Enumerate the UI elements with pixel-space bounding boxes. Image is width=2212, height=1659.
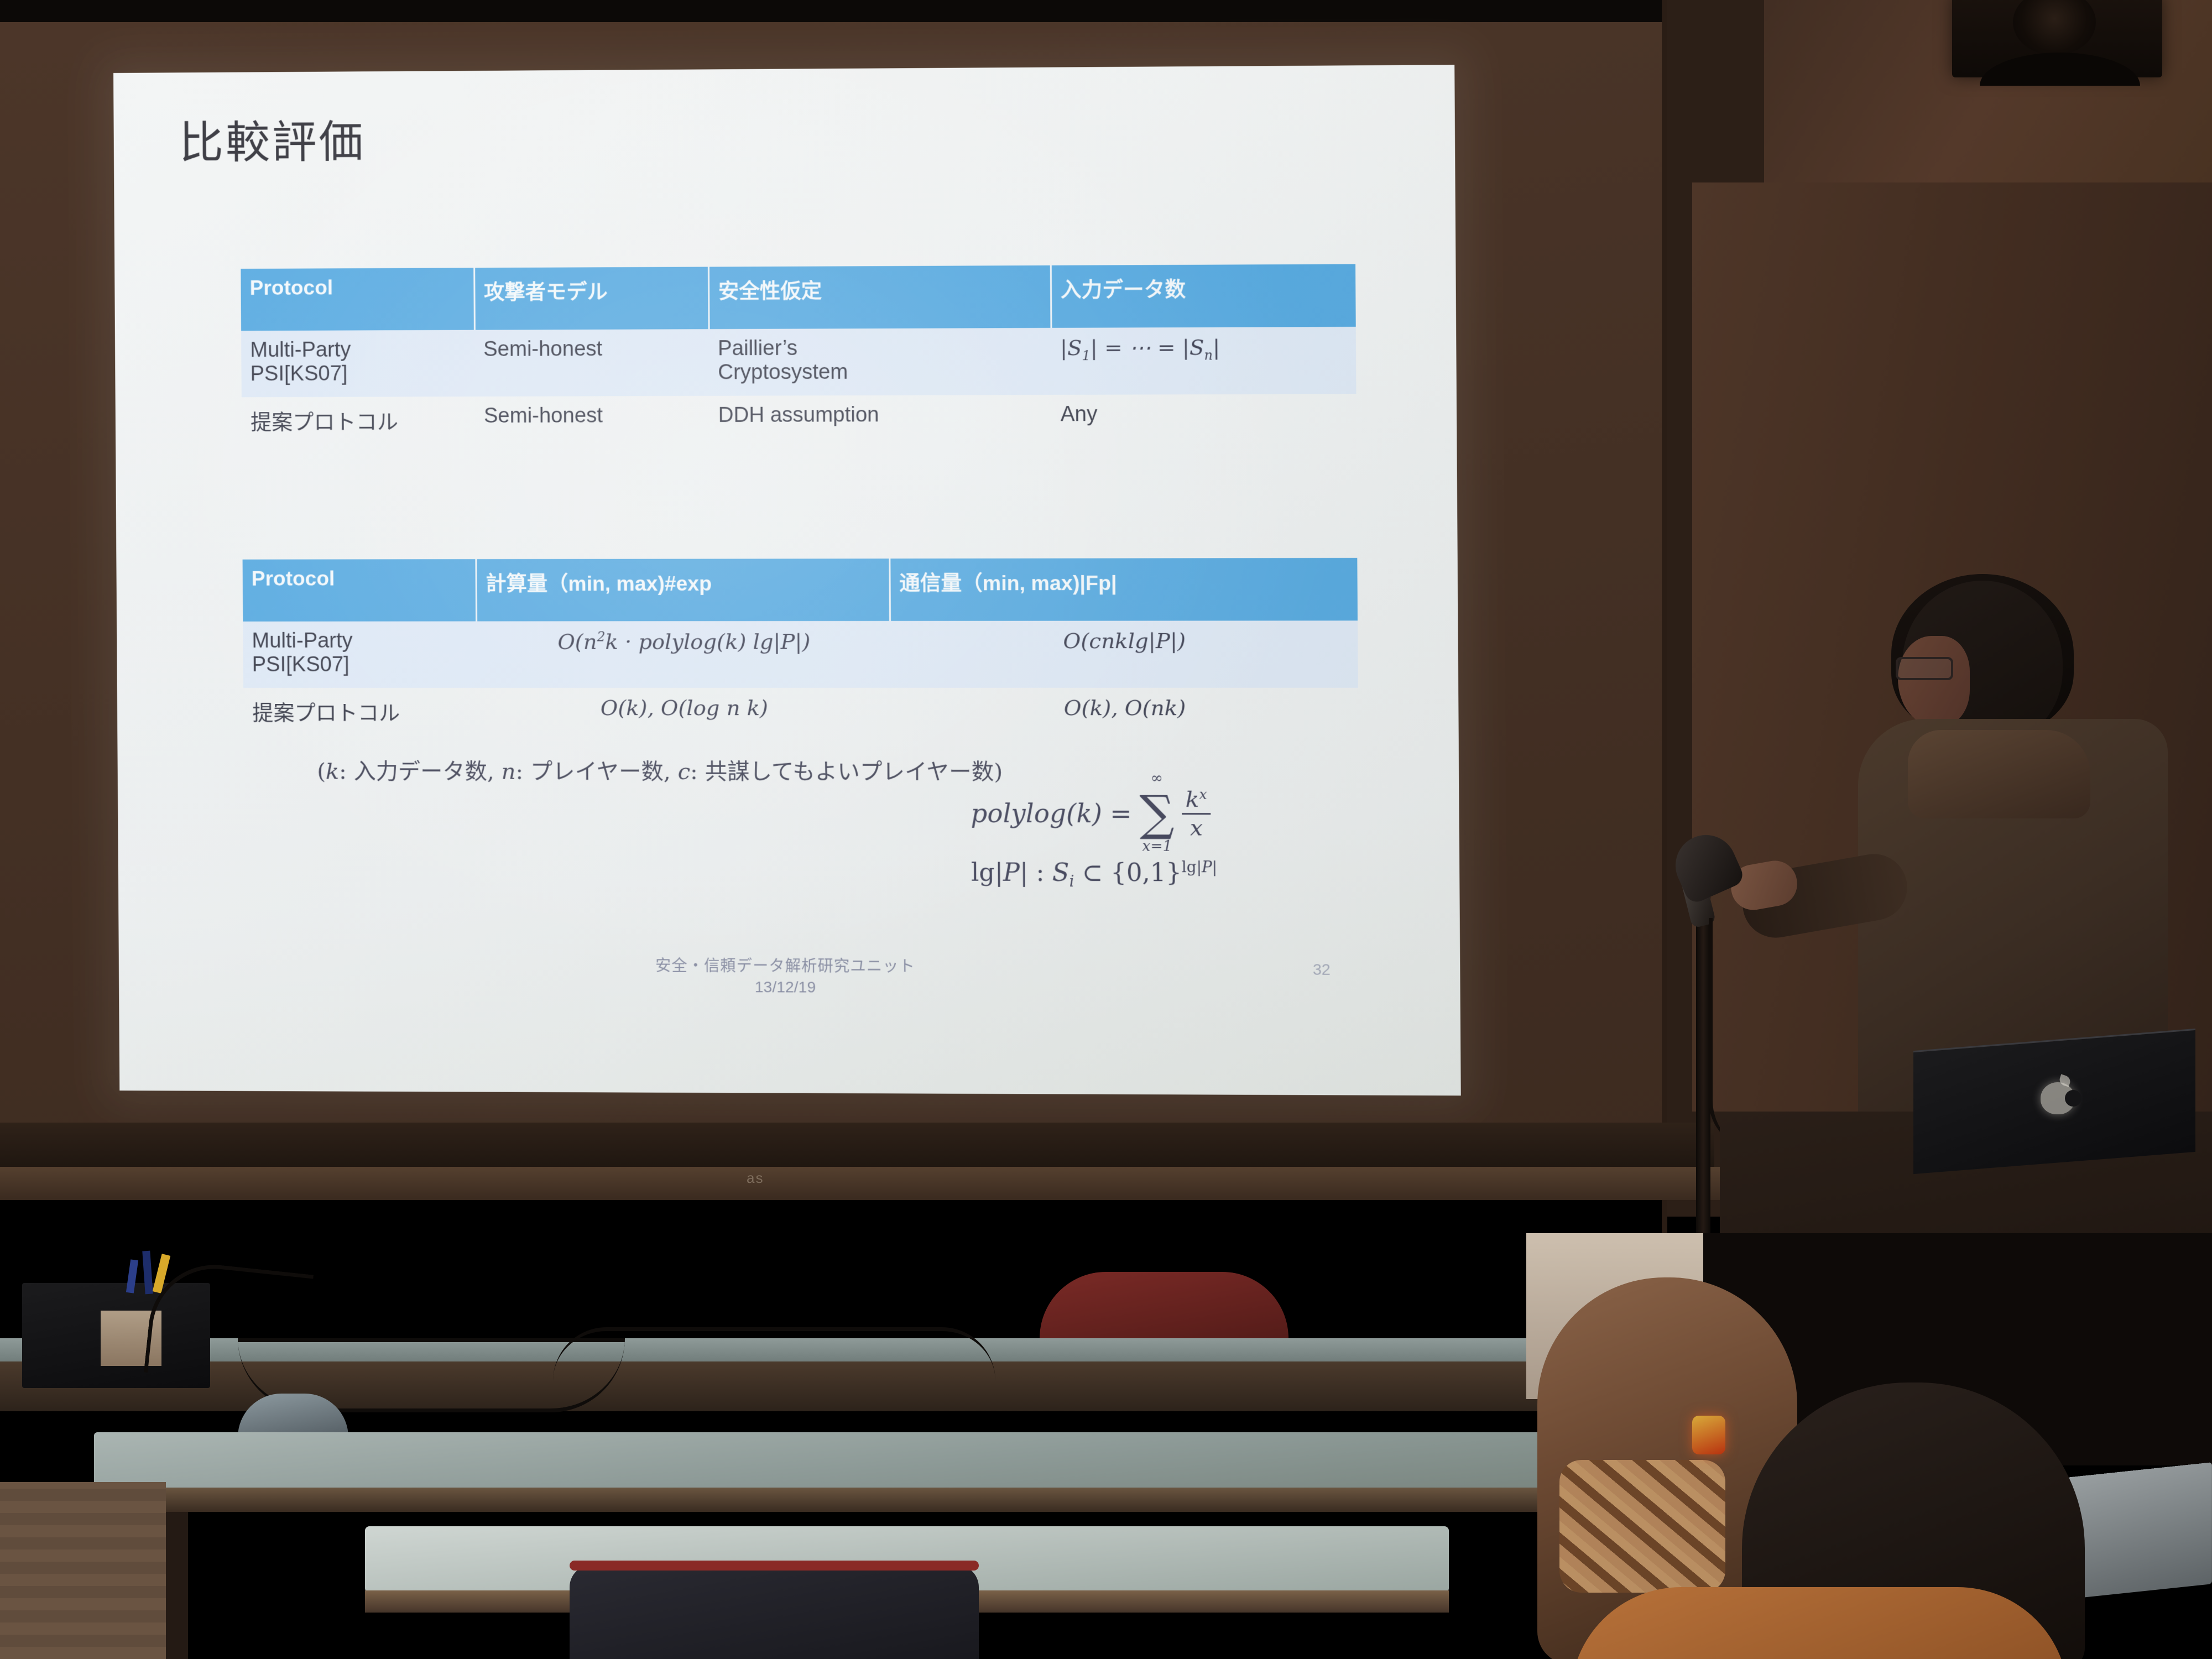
table1-r0-protocol: Multi-PartyPSI[KS07] — [241, 330, 475, 398]
fraction-numerator: kx — [1182, 787, 1211, 812]
table-row: Multi-PartyPSI[KS07] Semi-honest Paillie… — [241, 327, 1356, 397]
left-wall-panel — [0, 1482, 166, 1659]
slide-page-number: 32 — [1313, 961, 1331, 978]
projected-slide: 比較評価 Protocol 攻撃者モデル 安全性仮定 入力データ数 Multi-… — [113, 65, 1461, 1095]
chair-trim — [570, 1561, 979, 1571]
table1-header-input-count: 入力データ数 — [1051, 264, 1356, 328]
summation-icon: ∞ ∑ x=1 — [1140, 795, 1175, 832]
polylog-equals: = — [1110, 799, 1132, 829]
sigma-upper-limit: ∞ — [1151, 773, 1163, 784]
formula-block: polylog(k) = ∞ ∑ x=1 kx x lg|P| : Si ⊂ {… — [971, 787, 1434, 891]
table-row: 提案プロトコル O(k), O(log n k) O(k), O(nk) — [243, 688, 1358, 738]
apple-logo-icon — [2041, 1076, 2075, 1114]
table2-r0-protocol: Multi-PartyPSI[KS07] — [243, 622, 477, 688]
desk-front-edge — [94, 1488, 1543, 1512]
table1-r1-protocol: 提案プロトコル — [242, 397, 475, 446]
notation-line: (k: 入力データ数, n: プレイヤー数, c: 共謀してもよいプレイヤー数) — [317, 753, 1003, 786]
comparison-table-security: Protocol 攻撃者モデル 安全性仮定 入力データ数 Multi-Party… — [241, 264, 1357, 447]
polylog-fraction: kx x — [1182, 787, 1211, 840]
screen-casing — [0, 1123, 1714, 1172]
footer-date: 13/12/19 — [119, 977, 1460, 998]
sigma-lower-limit: x=1 — [1142, 841, 1172, 853]
table1-r1-input-count: Any — [1051, 394, 1357, 444]
screen-brand-label: as — [747, 1170, 764, 1187]
presenter-collar — [1908, 730, 2090, 818]
table1-header-assumption: 安全性仮定 — [708, 265, 1051, 329]
table2-r0-computation: O(n2k · polylog(k) lg|P|) — [476, 621, 890, 688]
lecture-hall-scene: 比較評価 Protocol 攻撃者モデル 安全性仮定 入力データ数 Multi-… — [0, 0, 2212, 1659]
table1-r0-assumption: Paillier’sCryptosystem — [709, 328, 1052, 396]
table2-r0-communication: O(cnklg|P|) — [890, 620, 1358, 688]
chair-foreground — [570, 1565, 979, 1659]
fraction-denominator: x — [1187, 816, 1207, 839]
screen-casing-strip — [0, 1167, 1725, 1200]
polylog-formula: polylog(k) = ∞ ∑ x=1 kx x — [971, 787, 1434, 840]
table1-header-protocol: Protocol — [241, 268, 474, 331]
table1-header-row: Protocol 攻撃者モデル 安全性仮定 入力データ数 — [241, 264, 1355, 331]
desk-front-surface — [94, 1432, 1543, 1493]
table2-header-computation: 計算量（min, max)#exp — [476, 559, 890, 621]
table-row: 提案プロトコル Semi-honest DDH assumption Any — [242, 394, 1357, 446]
audience-member-3 — [1571, 1587, 2068, 1659]
ceiling-shadow — [0, 0, 1665, 23]
table1-header-adversary: 攻撃者モデル — [474, 267, 708, 330]
wall-corner-edge — [1662, 0, 1667, 1272]
audience-scarf — [1559, 1460, 1725, 1593]
hair-clip-icon — [1692, 1416, 1725, 1454]
polylog-lhs: polylog(k) — [971, 799, 1102, 829]
table1-r0-adversary: Semi-honest — [474, 329, 709, 397]
footer-unit-name: 安全・信頼データ解析研究ユニット — [119, 952, 1460, 978]
slide-title: 比較評価 — [179, 106, 366, 171]
apple-logo-bite — [2065, 1090, 2081, 1107]
table2-header-row: Protocol 計算量（min, max)#exp 通信量（min, max)… — [243, 558, 1358, 622]
table1-r1-assumption: DDH assumption — [709, 395, 1051, 445]
cable-3 — [553, 1327, 995, 1381]
table2-header-protocol: Protocol — [243, 559, 477, 622]
table2-r1-computation: O(k), O(log n k) — [477, 688, 890, 738]
glasses-icon — [1896, 657, 1953, 680]
table2-header-communication: 通信量（min, max)|Fp| — [889, 558, 1358, 621]
table-row: Multi-PartyPSI[KS07] O(n2k · polylog(k) … — [243, 620, 1358, 688]
comparison-table-complexity: Protocol 計算量（min, max)#exp 通信量（min, max)… — [243, 558, 1359, 738]
fraction-bar — [1182, 813, 1211, 815]
table1-r0-input-count: |S1| = ⋯ = |Sn| — [1051, 327, 1356, 395]
chair-back-red — [1040, 1272, 1288, 1338]
desk-leg — [166, 1512, 188, 1659]
table1-r1-adversary: Semi-honest — [475, 396, 709, 446]
table2-r1-communication: O(k), O(nk) — [890, 688, 1359, 738]
lg-definition-formula: lg|P| : Si ⊂ {0,1}lg|P| — [971, 859, 1434, 891]
table2-r1-protocol: 提案プロトコル — [243, 688, 477, 737]
